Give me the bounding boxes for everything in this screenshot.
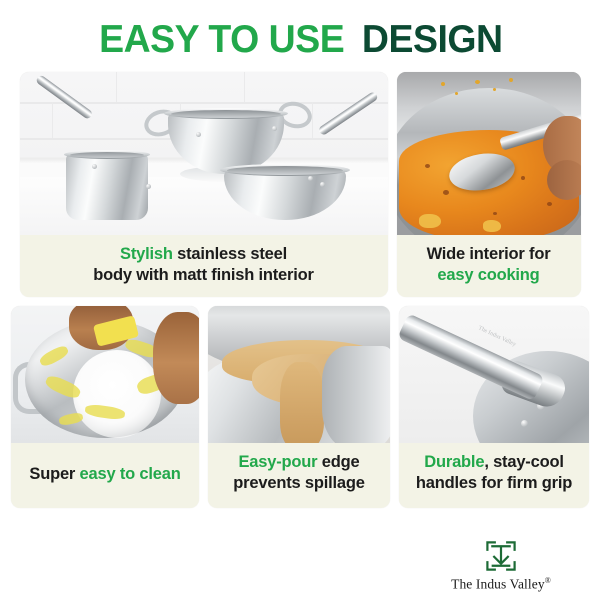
brand-name: The Indus Valley® bbox=[451, 576, 551, 593]
feature-card-durable-handles[interactable]: The Indus Valley Durable, stay-cool hand… bbox=[399, 306, 589, 508]
caption-line-2: prevents spillage bbox=[214, 473, 384, 494]
feature-row-top: Stylish stainless steel body with matt f… bbox=[0, 72, 600, 297]
cookware-set-photo bbox=[20, 72, 388, 235]
handle-closeup-photo: The Indus Valley bbox=[399, 306, 589, 443]
caption-line-2: easy cooking bbox=[403, 265, 575, 286]
indus-valley-monogram-icon bbox=[484, 539, 518, 573]
caption-line-1: Durable, stay-cool bbox=[405, 452, 583, 473]
feature-card-grid: Stylish stainless steel body with matt f… bbox=[0, 72, 600, 508]
feature-card-stylish-body[interactable]: Stylish stainless steel body with matt f… bbox=[20, 72, 388, 297]
saucepan-interior bbox=[70, 152, 144, 158]
page-title-dark-part: DESIGN bbox=[362, 20, 503, 59]
soap-suds bbox=[73, 350, 161, 438]
feature-card-wide-interior[interactable]: Wide interior for easy cooking bbox=[397, 72, 581, 297]
caption-rest: stainless steel bbox=[173, 245, 287, 263]
brand-footer: The Indus Valley® bbox=[0, 539, 600, 593]
pouring-batter-photo bbox=[208, 306, 390, 443]
caption-rest: edge bbox=[317, 453, 359, 471]
caption-line-1: Super easy to clean bbox=[17, 464, 193, 485]
feature-caption-wide-interior: Wide interior for easy cooking bbox=[397, 235, 581, 297]
caption-line-2: body with matt finish interior bbox=[26, 265, 382, 286]
kadai-interior bbox=[171, 110, 281, 118]
right-hand bbox=[153, 312, 199, 404]
feature-caption-stylish-body: Stylish stainless steel body with matt f… bbox=[20, 235, 388, 297]
caption-line-2: handles for firm grip bbox=[405, 473, 583, 494]
caption-line-1: Wide interior for bbox=[403, 244, 575, 265]
curry-scene bbox=[397, 72, 581, 235]
trademark-symbol: ® bbox=[545, 576, 551, 585]
caption-highlight: Easy-pour bbox=[239, 453, 318, 471]
feature-caption-easy-to-clean: Super easy to clean bbox=[11, 443, 199, 508]
caption-highlight: Stylish bbox=[120, 245, 173, 263]
curry-cooking-photo bbox=[397, 72, 581, 235]
brand-name-text: The Indus Valley bbox=[451, 576, 545, 591]
saucepan-body bbox=[66, 154, 148, 220]
cleaning-photo bbox=[11, 306, 199, 443]
frying-pan-interior bbox=[227, 166, 343, 175]
caption-line-1: Easy-pour edge bbox=[214, 452, 384, 473]
caption-highlight: Durable bbox=[424, 453, 484, 471]
caption-rest: , stay-cool bbox=[484, 453, 563, 471]
page-title-green-part: EASY TO USE bbox=[99, 20, 344, 59]
caption-line-1: Stylish stainless steel bbox=[26, 244, 382, 265]
feature-card-easy-to-clean[interactable]: Super easy to clean bbox=[11, 306, 199, 508]
feature-card-easy-pour[interactable]: Easy-pour edge prevents spillage bbox=[208, 306, 390, 508]
feature-row-bottom: Super easy to clean Easy-pour edge preve… bbox=[0, 306, 600, 508]
pour-edge-lip bbox=[322, 346, 390, 443]
caption-rest: Super bbox=[29, 465, 79, 483]
batter-stream bbox=[280, 362, 324, 443]
page-title: EASY TO USE DESIGN bbox=[0, 0, 600, 72]
caption-highlight: easy to clean bbox=[80, 465, 181, 483]
feature-caption-durable-handles: Durable, stay-cool handles for firm grip bbox=[399, 443, 589, 505]
feature-caption-easy-pour: Easy-pour edge prevents spillage bbox=[208, 443, 390, 505]
